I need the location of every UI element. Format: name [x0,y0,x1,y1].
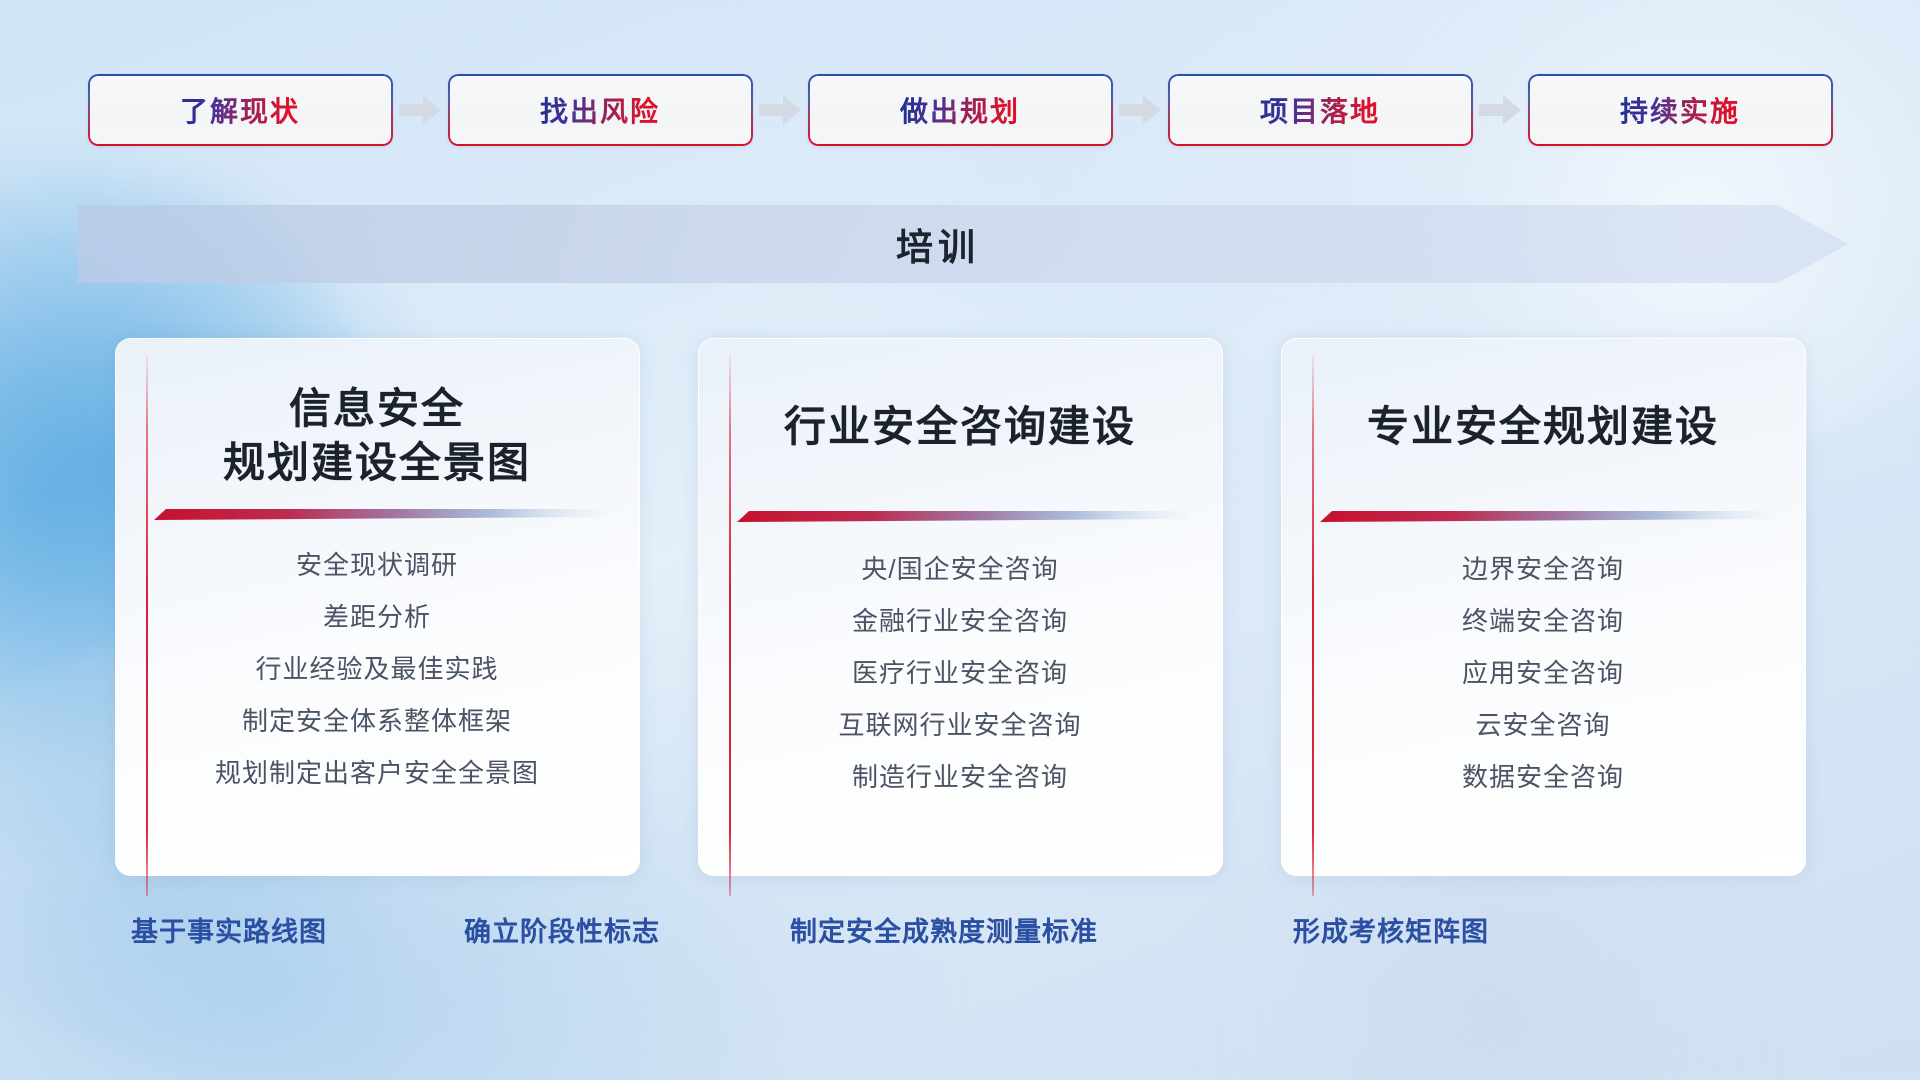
step-arrow-icon-3 [1113,74,1168,146]
list-item: 央/国企安全咨询 [861,548,1058,590]
footer-label-4: 形成考核矩阵图 [1293,910,1489,949]
list-item: 制造行业安全咨询 [852,756,1068,798]
list-item: 行业经验及最佳实践 [255,648,498,690]
step-label-4: 项目落地 [1260,90,1380,130]
footer-label-2: 确立阶段性标志 [464,910,660,949]
card-list-2: 央/国企安全咨询 金融行业安全咨询 医疗行业安全咨询 互联网行业安全咨询 制造行… [838,548,1081,799]
card-information-security-blueprint[interactable]: 信息安全 规划建设全景图 安全现状调研 差距分析 行 [115,338,640,876]
list-item: 医疗行业安全咨询 [852,652,1068,694]
footer-label-3: 制定安全成熟度测量标准 [790,910,1098,949]
card-title-2-line-1: 行业安全咨询建设 [784,400,1136,454]
card-divider-3 [1316,506,1771,526]
list-item: 边界安全咨询 [1462,548,1624,590]
list-item: 规划制定出客户安全全景图 [215,752,539,794]
list-item: 安全现状调研 [296,544,458,586]
step-box-4[interactable]: 项目落地 [1168,74,1473,146]
card-title-1-line-1: 信息安全 [223,382,531,436]
card-professional-security-planning[interactable]: 专业安全规划建设 边界安全咨询 终端安全咨询 应用安全咨询 [1281,338,1806,876]
step-box-5[interactable]: 持续实施 [1528,74,1833,146]
step-label-2: 找出风险 [540,90,660,130]
step-box-1[interactable]: 了解现状 [88,74,393,146]
card-industry-security-consulting[interactable]: 行业安全咨询建设 央/国企安全咨询 金融行业安全咨询 医疗行业安全咨 [698,338,1223,876]
list-item: 制定安全体系整体框架 [242,700,512,742]
banner-title: 培训 [78,205,1848,283]
footer-labels-row: 基于事实路线图 确立阶段性标志 制定安全成熟度测量标准 形成考核矩阵图 [0,910,1920,970]
training-banner: 培训 [78,205,1848,283]
list-item: 终端安全咨询 [1462,600,1624,642]
card-title-3: 专业安全规划建设 [1367,400,1719,454]
list-item: 云安全咨询 [1475,704,1610,746]
step-arrow-icon-2 [753,74,808,146]
step-arrow-icon-1 [393,74,448,146]
step-label-3: 做出规划 [900,90,1020,130]
list-item: 数据安全咨询 [1462,756,1624,798]
card-list-1: 安全现状调研 差距分析 行业经验及最佳实践 制定安全体系整体框架 规划制定出客户… [215,544,539,795]
list-item: 差距分析 [323,596,431,638]
process-steps-row: 了解现状 找出风险 做出规划 项目落地 持续实施 [0,74,1920,146]
list-item: 应用安全咨询 [1462,652,1624,694]
card-list-3: 边界安全咨询 终端安全咨询 应用安全咨询 云安全咨询 数据安全咨询 [1462,548,1624,799]
step-label-1: 了解现状 [180,90,300,130]
card-divider-2 [733,506,1188,526]
list-item: 互联网行业安全咨询 [838,704,1081,746]
step-box-3[interactable]: 做出规划 [808,74,1113,146]
list-item: 金融行业安全咨询 [852,600,1068,642]
card-title-2: 行业安全咨询建设 [784,400,1136,454]
step-label-5: 持续实施 [1620,90,1740,130]
footer-label-1: 基于事实路线图 [131,910,327,949]
card-divider-1 [150,504,605,524]
step-box-2[interactable]: 找出风险 [448,74,753,146]
card-title-1-line-2: 规划建设全景图 [223,436,531,490]
card-title-3-line-1: 专业安全规划建设 [1367,400,1719,454]
cards-row: 信息安全 规划建设全景图 安全现状调研 差距分析 行 [0,338,1920,878]
card-title-1: 信息安全 规划建设全景图 [223,382,531,490]
step-arrow-icon-4 [1473,74,1528,146]
